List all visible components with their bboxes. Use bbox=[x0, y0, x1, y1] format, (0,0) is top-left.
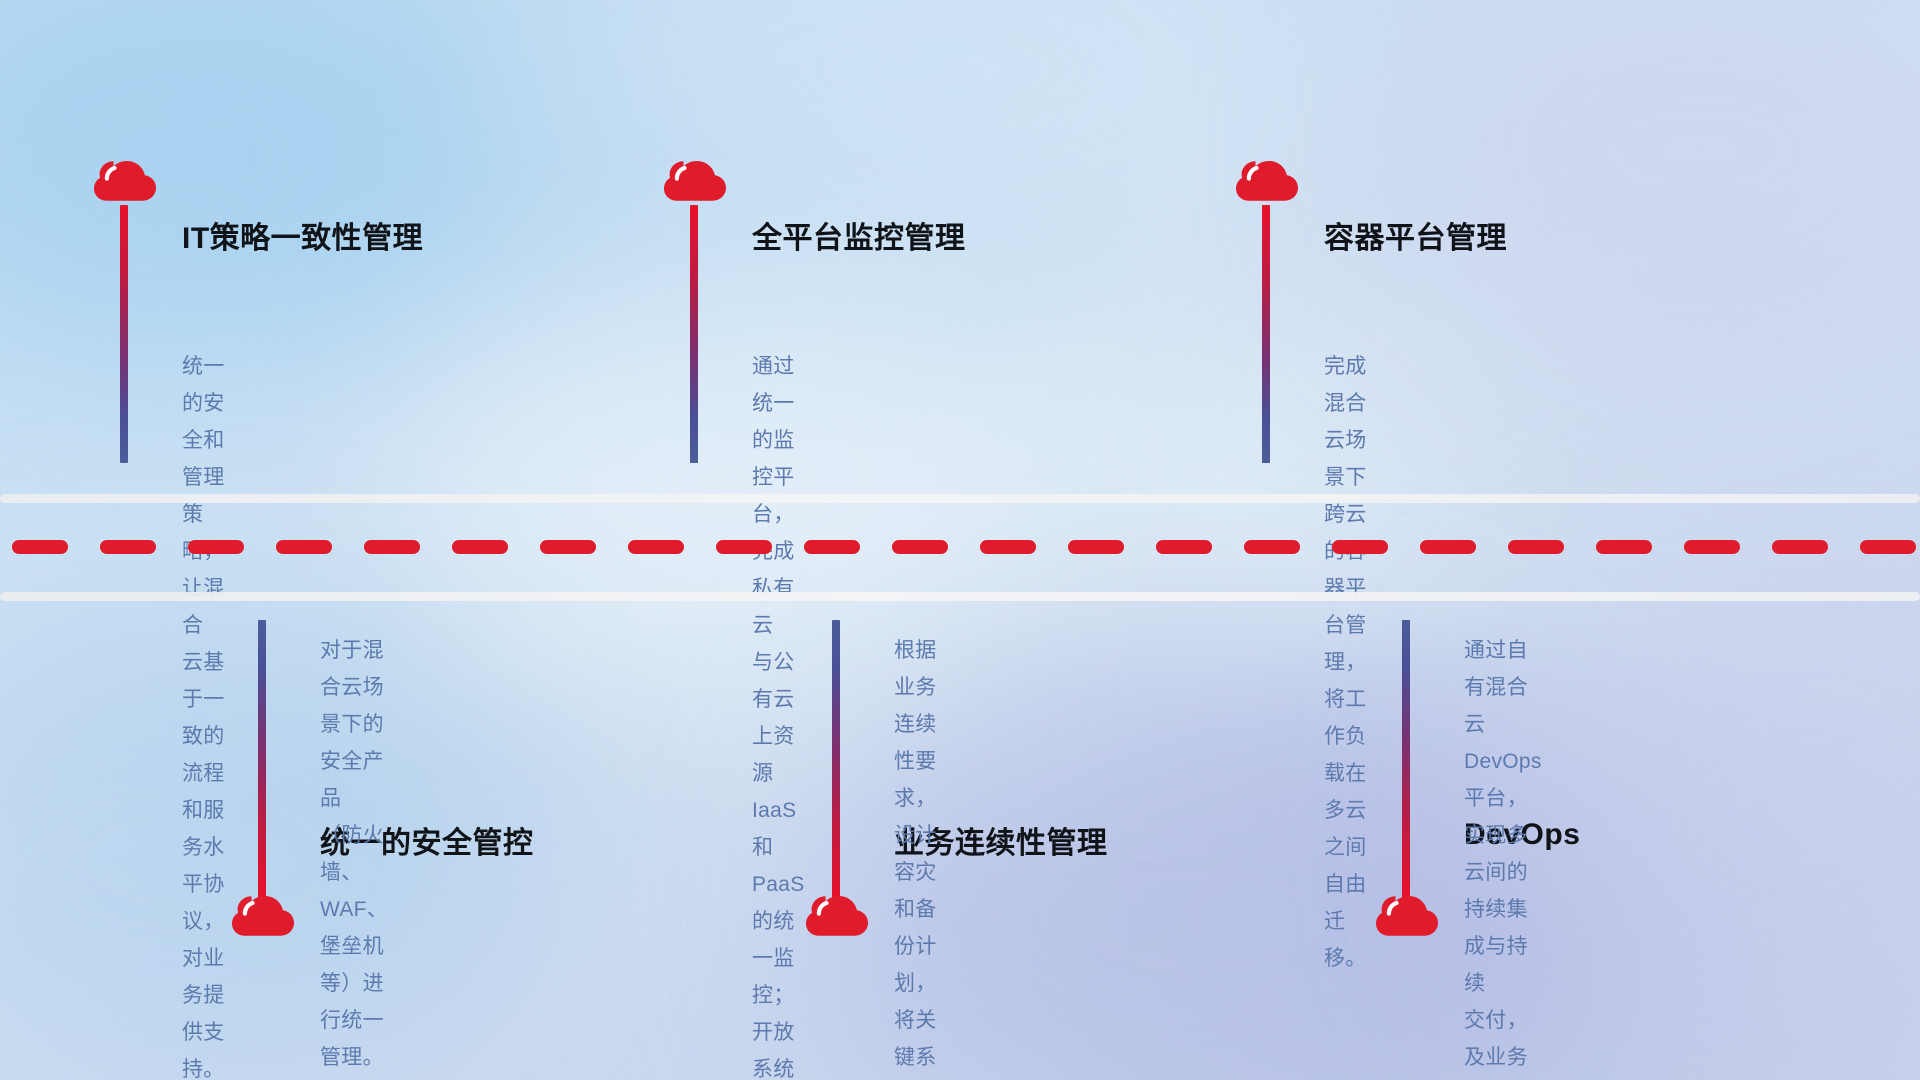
cloud-icon bbox=[806, 893, 868, 943]
divider-dash bbox=[804, 540, 860, 554]
connector-stem bbox=[1262, 205, 1270, 463]
divider-dash bbox=[1068, 540, 1124, 554]
heading-container-platform: 容器平台管理 bbox=[1324, 213, 1507, 257]
connector-stem bbox=[258, 620, 266, 900]
cloud-icon bbox=[1236, 158, 1298, 208]
divider-dash bbox=[364, 540, 420, 554]
divider-dash bbox=[628, 540, 684, 554]
divider-dash bbox=[716, 540, 772, 554]
description-it-policy-consistency: 统一的安全和管理策略，让混合 云基于一致的流程和服务水平协 议，对业务提供支持。 bbox=[182, 348, 225, 1080]
divider-dash bbox=[1596, 540, 1652, 554]
timeline-divider bbox=[0, 488, 1920, 608]
description-devops: 通过自有混合云DevOps平台， 实现多云间的持续集成与持续 交付，及业务的快速… bbox=[1464, 632, 1542, 1080]
divider-dash bbox=[1420, 540, 1476, 554]
description-full-platform-monitoring: 通过统一的监控平台，完成私有云 与公有云上资源IaaS和PaaS的统 一监控；开… bbox=[752, 348, 805, 1080]
background-blob bbox=[1380, 0, 1920, 380]
cloud-icon bbox=[94, 158, 156, 208]
connector-stem bbox=[1402, 620, 1410, 900]
divider-dashed-line bbox=[0, 540, 1920, 554]
cloud-icon bbox=[664, 158, 726, 208]
divider-dash bbox=[1772, 540, 1828, 554]
description-container-platform: 完成混合云场景下跨云的容器平 台管理，将工作负载在多云之间 自由迁移。 bbox=[1324, 348, 1367, 977]
divider-dash bbox=[1508, 540, 1564, 554]
description-business-continuity: 根据业务连续性要求，设计容灾 和备份计划，将关键系统备份至 线上/线下，并定期校… bbox=[894, 632, 937, 1080]
divider-dash bbox=[980, 540, 1036, 554]
divider-dash bbox=[12, 540, 68, 554]
divider-dash bbox=[1244, 540, 1300, 554]
divider-rail-top bbox=[0, 494, 1920, 503]
divider-dash bbox=[1860, 540, 1916, 554]
connector-stem bbox=[120, 205, 128, 463]
heading-it-policy-consistency: IT策略一致性管理 bbox=[182, 213, 423, 257]
connector-stem bbox=[690, 205, 698, 463]
divider-dash bbox=[892, 540, 948, 554]
background-blob bbox=[0, 0, 500, 370]
divider-dash bbox=[1332, 540, 1388, 554]
divider-dash bbox=[452, 540, 508, 554]
heading-full-platform-monitoring: 全平台监控管理 bbox=[752, 213, 966, 257]
divider-dash bbox=[276, 540, 332, 554]
infographic-canvas: IT策略一致性管理统一的安全和管理策略，让混合 云基于一致的流程和服务水平协 议… bbox=[0, 0, 1920, 1080]
connector-stem bbox=[832, 620, 840, 900]
divider-dash bbox=[188, 540, 244, 554]
divider-dash bbox=[1684, 540, 1740, 554]
description-unified-security: 对于混合云场景下的安全产品 （防火墙、WAF、堡垒机等）进 行统一管理。 bbox=[320, 632, 388, 1076]
divider-dash bbox=[540, 540, 596, 554]
divider-rail-bottom bbox=[0, 592, 1920, 601]
divider-dash bbox=[1156, 540, 1212, 554]
divider-dash bbox=[100, 540, 156, 554]
cloud-icon bbox=[232, 893, 294, 943]
cloud-icon bbox=[1376, 893, 1438, 943]
